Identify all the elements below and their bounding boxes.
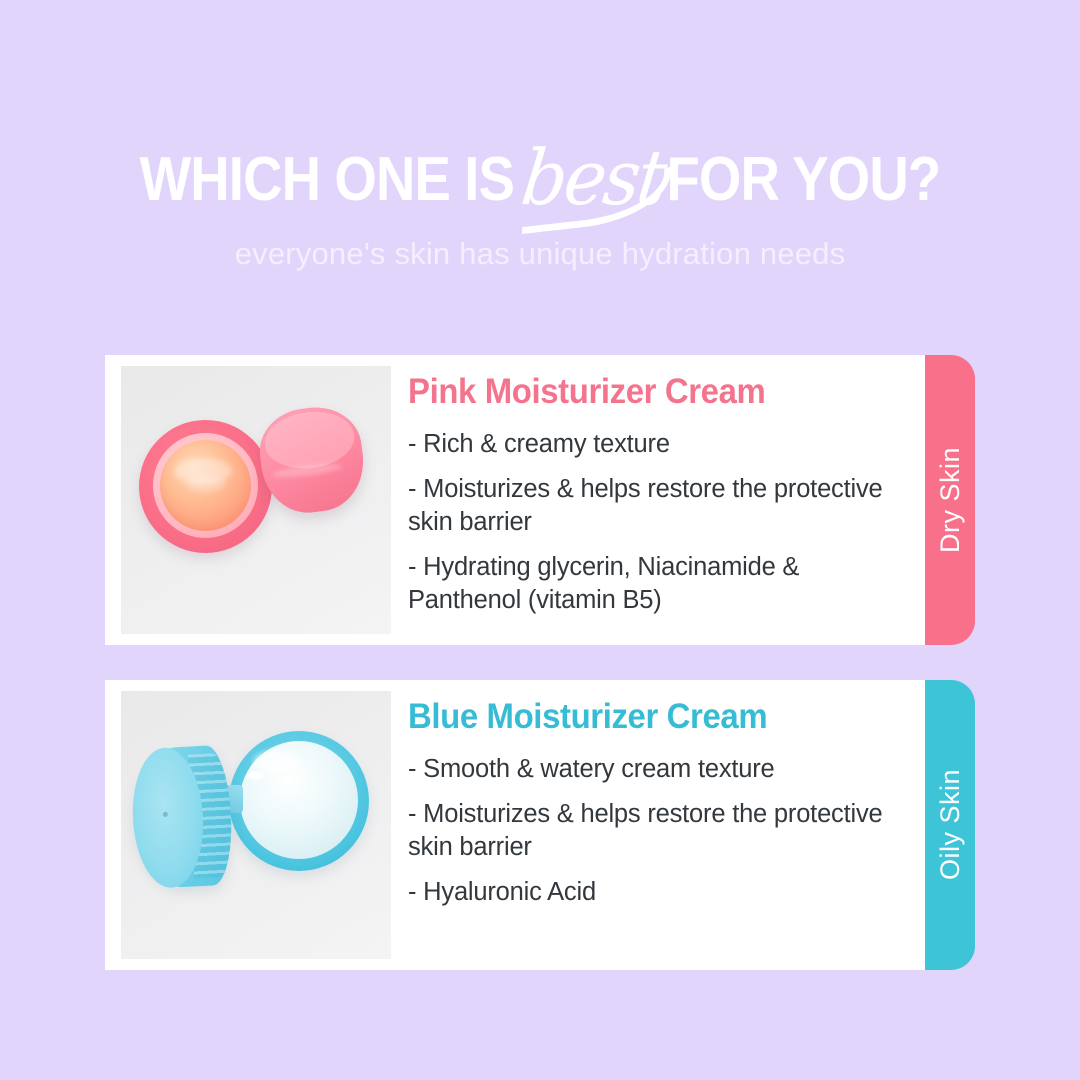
- headline-part-1: WHICH ONE IS: [140, 149, 514, 211]
- skin-type-tab-label: Oily Skin: [935, 769, 966, 880]
- pink-jar-base-icon: [139, 420, 272, 553]
- list-item: - Rich & creamy texture: [408, 428, 913, 461]
- feature-list-blue: - Smooth & watery cream texture - Moistu…: [408, 753, 913, 910]
- blue-cream-surface-icon: [240, 741, 358, 859]
- headline-script-word: best: [517, 140, 667, 216]
- pink-jar-rim-icon: [153, 433, 258, 538]
- feature-list-pink: - Rich & creamy texture - Moisturizes & …: [408, 428, 913, 617]
- list-item: - Moisturizes & helps restore the protec…: [408, 473, 913, 538]
- skin-type-tab-dry[interactable]: Dry Skin: [925, 355, 975, 645]
- skin-type-tab-label: Dry Skin: [935, 447, 966, 553]
- blue-jar-base-icon: [229, 731, 369, 871]
- skin-type-tab-oily[interactable]: Oily Skin: [925, 680, 975, 970]
- card-content-blue: Blue Moisturizer Cream - Smooth & watery…: [408, 698, 913, 909]
- product-card-blue: Blue Moisturizer Cream - Smooth & watery…: [105, 680, 975, 970]
- list-item: - Smooth & watery cream texture: [408, 753, 913, 786]
- product-title-pink: Pink Moisturizer Cream: [408, 373, 883, 412]
- card-body-blue: Blue Moisturizer Cream - Smooth & watery…: [105, 680, 929, 970]
- pink-cream-surface-icon: [160, 440, 251, 531]
- card-content-pink: Pink Moisturizer Cream - Rich & creamy t…: [408, 373, 913, 617]
- list-item: - Hyaluronic Acid: [408, 876, 913, 909]
- list-item: - Hydrating glycerin, Niacinamide & Pant…: [408, 551, 913, 616]
- list-item: - Moisturizes & helps restore the protec…: [408, 798, 913, 863]
- page-headline: WHICH ONE ISbestFOR YOU?: [65, 0, 1015, 212]
- headline-part-2: FOR YOU?: [666, 149, 940, 211]
- page-subtitle: everyone's skin has unique hydration nee…: [0, 212, 1080, 272]
- card-body-pink: Pink Moisturizer Cream - Rich & creamy t…: [105, 355, 929, 645]
- product-card-pink: Pink Moisturizer Cream - Rich & creamy t…: [105, 355, 975, 645]
- product-title-blue: Blue Moisturizer Cream: [408, 698, 883, 737]
- product-photo-blue: [121, 691, 391, 959]
- blue-jar-lid-icon: [129, 745, 234, 890]
- header: WHICH ONE ISbestFOR YOU? everyone's skin…: [0, 0, 1080, 272]
- product-photo-pink: [121, 366, 391, 634]
